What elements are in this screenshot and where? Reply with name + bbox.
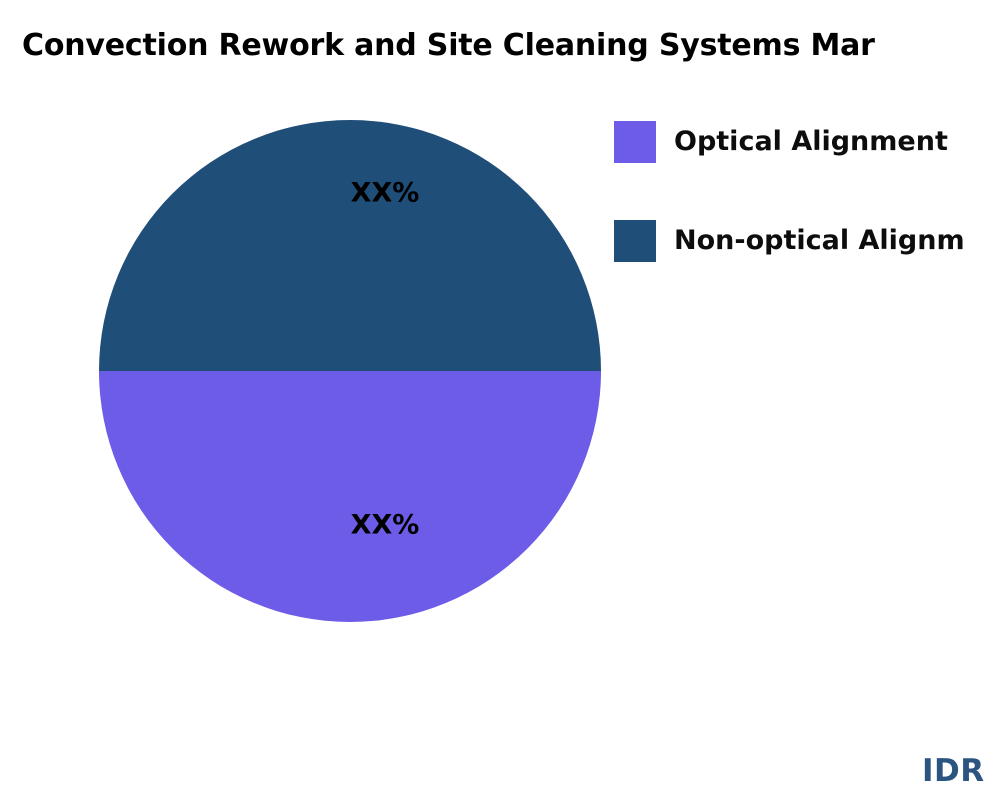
legend-label-non-optical-alignment: Non-optical Alignm: [674, 220, 965, 262]
pie-chart-figure: Convection Rework and Site Cleaning Syst…: [0, 0, 1000, 800]
legend-label-optical-alignment: Optical Alignment: [674, 121, 948, 163]
chart-legend: Optical Alignment Non-optical Alignm: [614, 121, 1000, 319]
chart-title: Convection Rework and Site Cleaning Syst…: [22, 26, 875, 66]
legend-item-non-optical-alignment[interactable]: Non-optical Alignm: [614, 220, 1000, 262]
brand-logo: IDR: [922, 753, 985, 789]
pie-slice-optical-alignment[interactable]: [99, 371, 601, 622]
pie-svg: [99, 120, 601, 622]
legend-item-optical-alignment[interactable]: Optical Alignment: [614, 121, 1000, 163]
legend-swatch-icon-non-optical-alignment: [614, 220, 656, 262]
pie-slice-non-optical-alignment[interactable]: [99, 120, 601, 371]
pie-chart-plot-area: XX% XX%: [99, 120, 601, 622]
legend-swatch-icon-optical-alignment: [614, 121, 656, 163]
